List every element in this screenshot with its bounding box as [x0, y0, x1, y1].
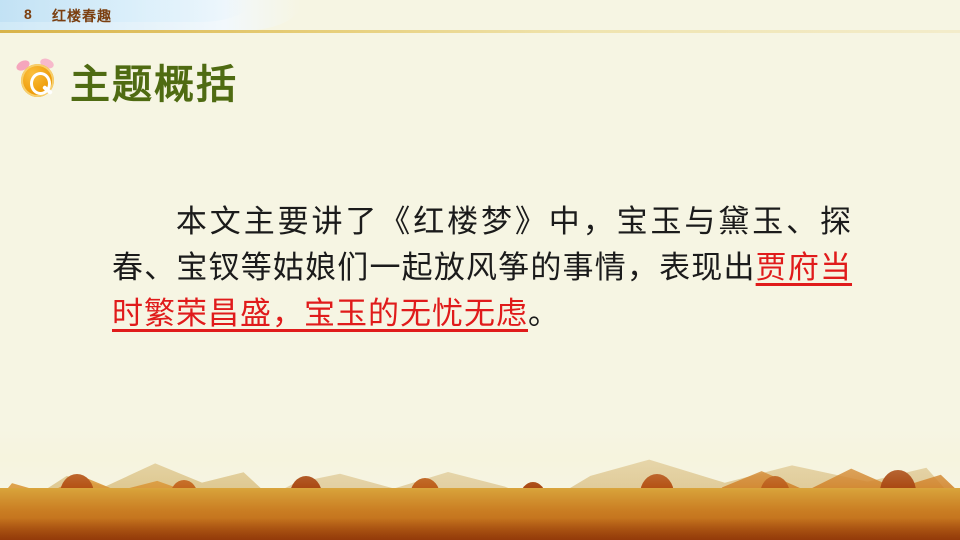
ground-shadow — [0, 518, 960, 540]
slide-header: 8 红楼春趣 — [0, 0, 960, 34]
header-divider — [0, 30, 960, 33]
content-block: 本文主要讲了《红楼梦》中，宝玉与黛玉、探春、宝钗等姑娘们一起放风筝的事情，表现出… — [112, 168, 852, 368]
paragraph-text-part1: 本文主要讲了《红楼梦》中，宝玉与黛玉、探春、宝钗等姑娘们一起放风筝的事情，表现出 — [112, 204, 852, 286]
lesson-number: 8 — [24, 6, 32, 22]
orange-badge-icon — [14, 55, 62, 107]
paragraph-text-part2: 。 — [528, 296, 560, 332]
slide: 8 红楼春趣 主题概括 本文主要讲了《红楼梦》中，宝玉与黛玉、探春、宝钗等姑娘们… — [0, 0, 960, 540]
footer-scenery — [0, 430, 960, 540]
summary-paragraph: 本文主要讲了《红楼梦》中，宝玉与黛玉、探春、宝钗等姑娘们一起放风筝的事情，表现出… — [112, 199, 852, 337]
lesson-title: 红楼春趣 — [52, 6, 112, 26]
header-swoosh-decor-2 — [0, 0, 250, 22]
section-title-text: 主题概括 — [70, 52, 238, 110]
section-title: 主题概括 — [14, 52, 238, 110]
